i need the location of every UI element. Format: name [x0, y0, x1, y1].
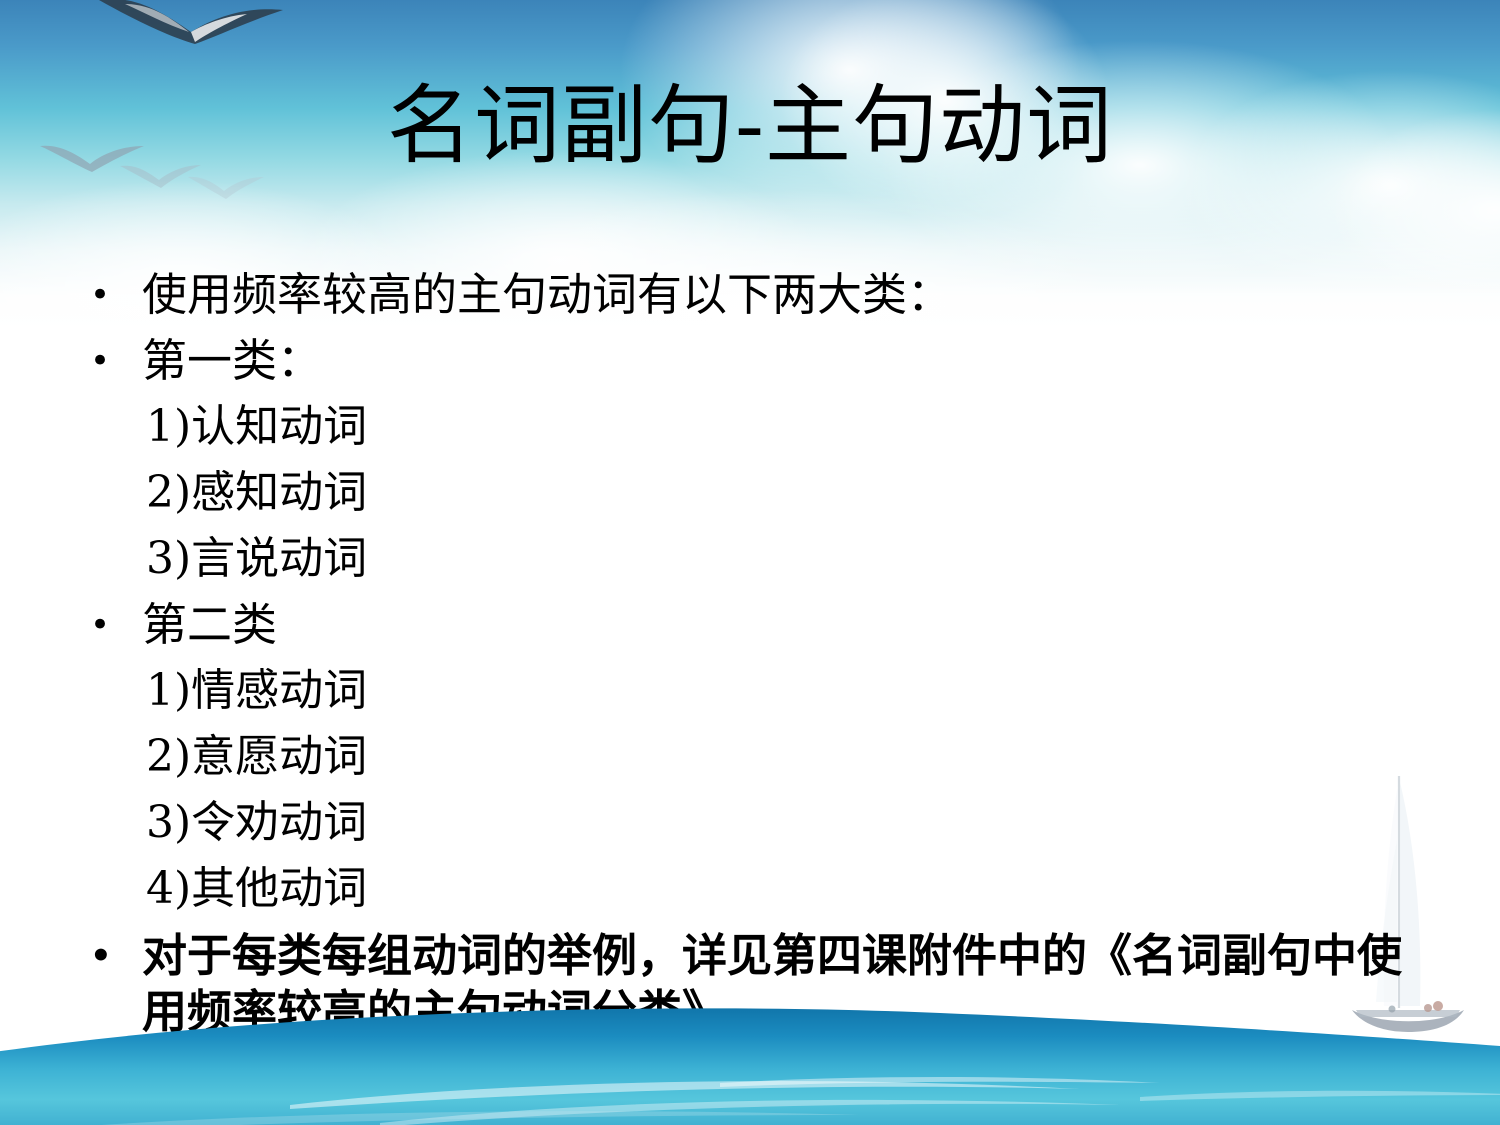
bullet-text: 第一类：	[142, 328, 1418, 394]
bullet-text: 第二类	[142, 592, 1418, 658]
slide-body: • 使用频率较高的主句动词有以下两大类： • 第一类： 1)认知动词 2)感知动…	[78, 262, 1418, 1040]
sub-item-line: 1)认知动词	[78, 394, 1418, 460]
sub-item-text: 1)认知动词	[142, 394, 1418, 460]
sub-item-text: 3)言说动词	[142, 526, 1418, 592]
sub-item-line: 1)情感动词	[78, 658, 1418, 724]
bullet-line: • 第一类：	[78, 328, 1418, 394]
bullet-marker: •	[78, 262, 142, 328]
slide-canvas: 名词副句-主句动词 • 使用频率较高的主句动词有以下两大类： • 第一类： 1)…	[0, 0, 1500, 1125]
sub-item-text: 1)情感动词	[142, 658, 1418, 724]
slide-title: 名词副句-主句动词	[0, 78, 1500, 174]
bullet-marker: •	[78, 592, 142, 658]
ocean-band	[0, 1005, 1500, 1125]
bullet-line: • 第二类	[78, 592, 1418, 658]
sub-item-text: 4)其他动词	[142, 856, 1418, 922]
sub-item-line: 2)感知动词	[78, 460, 1418, 526]
sub-item-text: 2)意愿动词	[142, 724, 1418, 790]
bullet-marker: •	[78, 328, 142, 394]
bullet-text: 使用频率较高的主句动词有以下两大类：	[142, 262, 1418, 328]
bullet-marker: •	[78, 928, 142, 984]
sub-item-text: 2)感知动词	[142, 460, 1418, 526]
sub-item-text: 3)令劝动词	[142, 790, 1418, 856]
sub-item-line: 2)意愿动词	[78, 724, 1418, 790]
sub-item-line: 3)言说动词	[78, 526, 1418, 592]
sub-item-line: 3)令劝动词	[78, 790, 1418, 856]
bullet-line: • 使用频率较高的主句动词有以下两大类：	[78, 262, 1418, 328]
sub-item-line: 4)其他动词	[78, 856, 1418, 922]
